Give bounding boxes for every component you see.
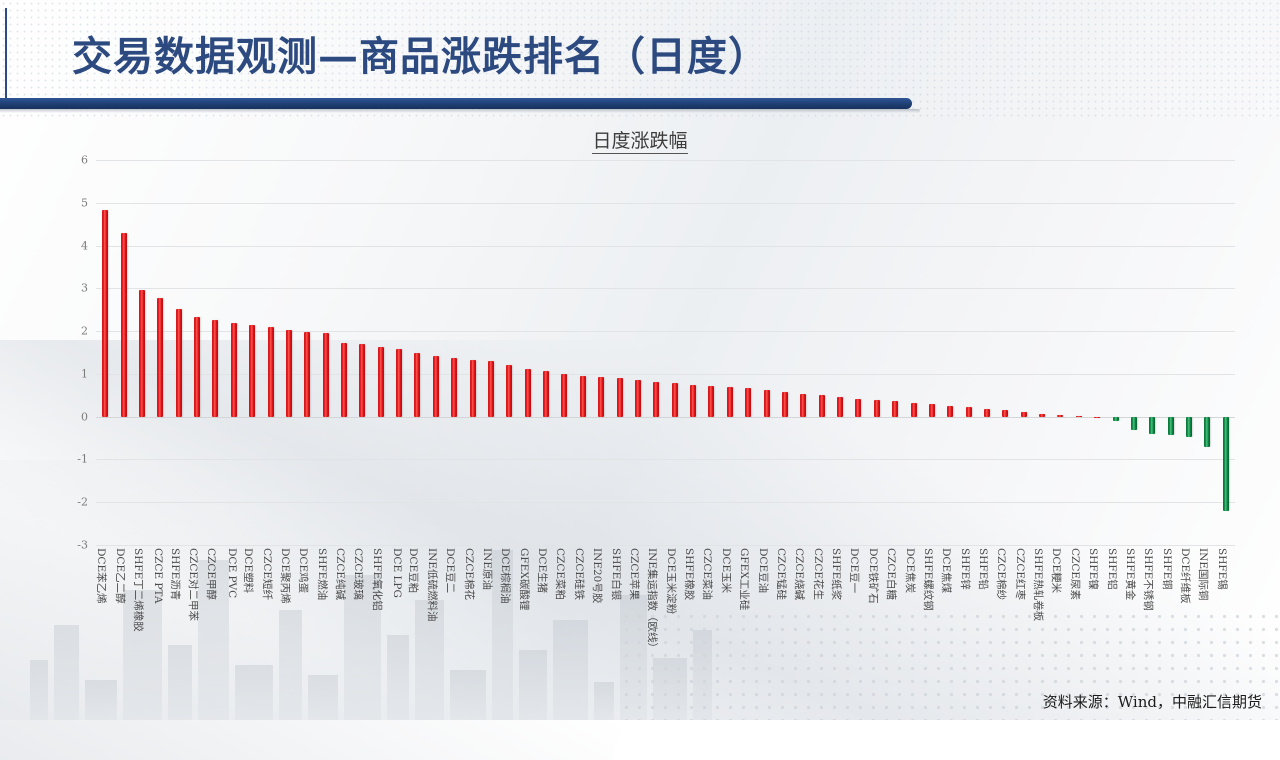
y-axis-tick: -1 (77, 453, 88, 466)
bar (304, 332, 310, 417)
bar (598, 377, 604, 417)
x-axis-tick-label: CZCE PTA (152, 548, 164, 603)
x-axis-tick-label: DCE生猪 (535, 548, 550, 593)
x-axis-tick-label: DCE豆一 (847, 548, 862, 593)
bar (1223, 417, 1229, 511)
x-axis-tick-label: INE国际铜 (1196, 548, 1211, 601)
decor-building (54, 625, 79, 720)
bar-series (96, 160, 1235, 545)
bar (947, 406, 953, 417)
x-axis-tick-label: SHFE纸浆 (829, 548, 844, 600)
y-axis-tick: 5 (81, 196, 88, 209)
x-axis-tick-label: DCE玉米淀粉 (664, 548, 679, 614)
bar (1057, 415, 1063, 417)
bar (874, 400, 880, 417)
bar (1113, 417, 1119, 421)
bar (1149, 417, 1155, 435)
slide-canvas: 交易数据观测—商品涨跌排名（日度） 日度涨跌幅 6543210-1-2-3 DC… (0, 0, 1280, 720)
bar (653, 382, 659, 417)
bar (782, 392, 788, 417)
bar (470, 360, 476, 417)
bar (323, 333, 329, 416)
x-axis-tick-label: SHFE白银 (609, 548, 624, 600)
x-axis-tick-label: CZCE纯碱 (333, 548, 348, 600)
x-axis-tick-label: CZCE菜粕 (553, 548, 568, 600)
x-axis-tick-label: CZCE对二甲苯 (186, 548, 201, 621)
x-axis-tick-label: DCE焦炭 (903, 548, 918, 593)
bar (286, 330, 292, 417)
bar (249, 325, 255, 417)
bar (984, 409, 990, 417)
y-axis-tick: 3 (81, 282, 88, 295)
x-axis-tick-label: CZCE棉纱 (994, 548, 1009, 600)
chart-title-text: 日度涨跌幅 (592, 130, 687, 154)
x-axis-tick-label: CZCE菜油 (700, 548, 715, 600)
bar (359, 344, 365, 417)
x-axis-tick-label: DCE棕榈油 (498, 548, 513, 604)
x-axis-tick-label: SHFE铜 (1160, 548, 1175, 590)
y-axis-tick: -3 (77, 539, 88, 552)
x-axis-tick-label: CZCE锰硅 (774, 548, 789, 600)
y-axis-tick: 0 (81, 410, 88, 423)
bar (157, 298, 163, 417)
y-axis: 6543210-1-2-3 (60, 160, 94, 545)
x-axis-tick-label: SHFE燃油 (315, 548, 330, 600)
plot-region (96, 160, 1235, 545)
bar (672, 383, 678, 416)
bar (966, 407, 972, 416)
bar (414, 353, 420, 417)
x-axis-tick-label: DCE PVC (226, 548, 238, 598)
x-axis-tick-label: SHFE氧化铝 (370, 548, 385, 611)
x-axis-tick-label: DCE LPG (391, 548, 403, 598)
bar (892, 401, 898, 417)
x-axis-tick-label: DCE塑料 (241, 548, 256, 593)
y-axis-tick: -2 (77, 496, 88, 509)
x-axis-labels: DCE苯乙烯DCE乙二醇SHFE丁二烯橡胶CZCE PTASHFE沥青CZCE对… (96, 548, 1235, 688)
bar (139, 290, 145, 416)
x-axis-tick-label: SHFE螺纹钢 (921, 548, 936, 611)
bar (727, 387, 733, 417)
bar (451, 358, 457, 417)
x-axis-tick-label: SHFE黄金 (1123, 548, 1138, 600)
bar (911, 403, 917, 417)
bar (1021, 412, 1027, 417)
bar (194, 317, 200, 417)
x-axis-tick-label: CZCE短纤 (260, 548, 275, 600)
bar (1094, 417, 1100, 418)
x-axis-tick-label: SHFE热轧卷板 (1031, 548, 1046, 621)
x-axis-tick-label: DCE苯乙烯 (94, 548, 109, 604)
bar (617, 378, 623, 417)
bar (378, 347, 384, 416)
y-axis-tick: 6 (81, 154, 88, 167)
bar (1168, 417, 1174, 435)
bar (561, 374, 567, 417)
bar (396, 349, 402, 417)
x-axis-tick-label: DCE聚丙烯 (278, 548, 293, 604)
x-axis-tick-label: SHFE不锈钢 (1141, 548, 1156, 611)
bar (819, 395, 825, 416)
x-axis-tick-label: CZCE尿素 (1068, 548, 1083, 600)
bar (525, 369, 531, 417)
x-axis-tick-label: CZCE苹果 (627, 548, 642, 600)
bar (800, 394, 806, 417)
bar (855, 399, 861, 417)
bar (1002, 410, 1008, 417)
x-axis-tick-label: GFEX工业硅 (737, 548, 752, 610)
y-axis-tick: 2 (81, 325, 88, 338)
x-axis-tick-label: DCE乙二醇 (113, 548, 128, 604)
bar (433, 356, 439, 417)
bar (231, 323, 237, 417)
x-axis-tick-label: CZCE烧碱 (792, 548, 807, 600)
x-axis-tick-label: INE20号胶 (590, 548, 605, 603)
bar (121, 233, 127, 417)
bar (929, 404, 935, 417)
x-axis-tick-label: DCE玉米 (719, 548, 734, 593)
x-axis-tick-label: SHFE铅 (976, 548, 991, 590)
x-axis-tick-label: GFEX碳酸锂 (517, 548, 532, 610)
x-axis-tick-label: INE低硫燃料油 (425, 548, 440, 622)
x-axis-tick-label: CZCE硅铁 (572, 548, 587, 600)
header-accent-bar-shadow (0, 109, 920, 113)
bar (1204, 417, 1210, 447)
bar (635, 380, 641, 417)
bar (102, 210, 108, 416)
bar (543, 371, 549, 416)
bar (176, 309, 182, 417)
bar (268, 327, 274, 416)
x-axis-tick-label: DCE纤维板 (1178, 548, 1193, 604)
x-axis-tick-label: SHFE镍 (1086, 548, 1101, 590)
chart-area: 6543210-1-2-3 (60, 160, 1235, 545)
x-axis-tick-label: SHFE锌 (958, 548, 973, 590)
bar (745, 388, 751, 417)
bar (1039, 414, 1045, 417)
bar (764, 390, 770, 417)
y-axis-tick: 4 (81, 239, 88, 252)
bar (1076, 416, 1082, 417)
x-axis-tick-label: CZCE白糖 (884, 548, 899, 600)
bar (488, 361, 494, 416)
bar (708, 386, 714, 417)
x-axis-tick-label: DCE豆粕 (406, 548, 421, 593)
x-axis-tick-label: DCE焦煤 (939, 548, 954, 593)
x-axis-tick-label: SHFE锡 (1215, 548, 1230, 590)
chart-title: 日度涨跌幅 (0, 126, 1280, 153)
x-axis-tick-label: INE原油 (480, 548, 495, 590)
header-left-rule (5, 8, 7, 104)
x-axis-tick-label: CZCE棉花 (462, 548, 477, 600)
page-title: 交易数据观测—商品涨跌排名（日度） (72, 24, 769, 82)
x-axis-tick-label: DCE豆二 (443, 548, 458, 593)
bar (837, 397, 843, 416)
x-axis-tick-label: CZCE甲醇 (204, 548, 219, 600)
slide-header: 交易数据观测—商品涨跌排名（日度） (0, 0, 1280, 112)
x-axis-tick-label: SHFE丁二烯橡胶 (131, 548, 146, 632)
bar (1186, 417, 1192, 438)
x-axis-tick-label: INE集运指数（欧线） (645, 548, 660, 653)
bar (506, 365, 512, 416)
decor-building (30, 660, 48, 720)
x-axis-tick-label: DCE鸡蛋 (296, 548, 311, 593)
gridline (96, 545, 1235, 546)
bar (1131, 417, 1137, 431)
bar (580, 376, 586, 417)
bar (341, 343, 347, 417)
bar (690, 385, 696, 417)
bar (212, 320, 218, 417)
x-axis-tick-label: CZCE红枣 (1013, 548, 1028, 600)
x-axis-tick-label: CZCE花生 (811, 548, 826, 600)
x-axis-tick-label: DCE豆油 (756, 548, 771, 593)
header-accent-bar (0, 98, 912, 109)
y-axis-tick: 1 (81, 367, 88, 380)
x-axis-tick-label: DCE粳米 (1049, 548, 1064, 593)
x-axis-tick-label: DCE铁矿石 (866, 548, 881, 604)
source-note: 资料来源：Wind，中融汇信期货 (1043, 691, 1262, 712)
x-axis-tick-label: SHFE橡胶 (682, 548, 697, 600)
x-axis-tick-label: CZCE玻璃 (351, 548, 366, 600)
x-axis-tick-label: SHFE铝 (1105, 548, 1120, 590)
x-axis-tick-label: SHFE沥青 (168, 548, 183, 600)
